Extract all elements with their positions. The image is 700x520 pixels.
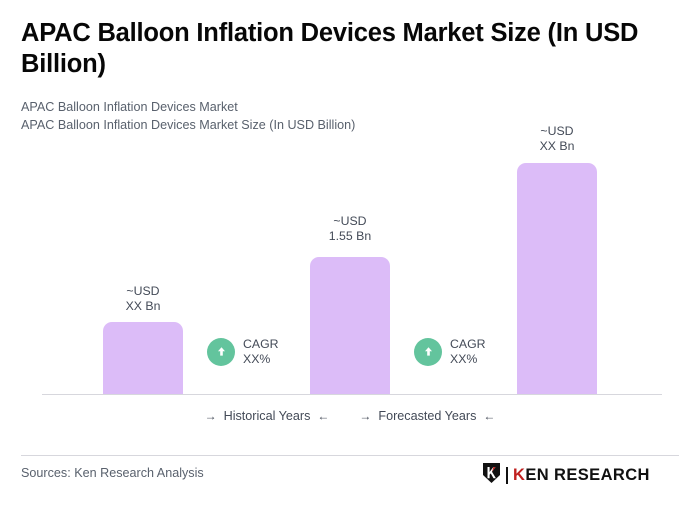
bar-value-label-1: ~USD XX Bn	[103, 284, 183, 313]
arrow-left-icon: ←	[483, 410, 495, 422]
cagr-badge-1: CAGR XX%	[207, 337, 279, 366]
footer-divider	[21, 455, 679, 456]
logo-wordmark-rest: EN RESEARCH	[525, 467, 650, 484]
bar-value-label-1-line1: ~USD	[126, 284, 159, 298]
cagr-label-2-line1: CAGR	[450, 337, 486, 351]
cagr-label-2-line2: XX%	[450, 352, 486, 367]
legend-item-historical-years: → Historical Years ←	[205, 409, 330, 423]
arrow-left-icon: ←	[317, 410, 329, 422]
logo-divider	[506, 467, 508, 484]
bar-3[interactable]	[517, 163, 597, 394]
cagr-badge-2: CAGR XX%	[414, 337, 486, 366]
bar-value-label-2-line2: 1.55 Bn	[310, 229, 390, 244]
legend-label-forecasted-years: Forecasted Years	[378, 409, 476, 423]
bar-value-label-3-line1: ~USD	[540, 124, 573, 138]
bar-value-label-3-line2: XX Bn	[517, 139, 597, 154]
ken-research-logo: K EN RESEARCH	[482, 462, 650, 489]
arrow-up-icon	[207, 338, 235, 366]
arrow-right-icon: →	[359, 410, 371, 422]
legend-item-forecasted-years: → Forecasted Years ←	[359, 409, 495, 423]
logo-wordmark: K EN RESEARCH	[513, 467, 650, 484]
bar-1[interactable]	[103, 322, 183, 394]
plot-area: ~USD XX Bn CAGR XX% ~USD 1.55 Bn	[0, 0, 700, 400]
cagr-label-1: CAGR XX%	[243, 337, 279, 366]
arrow-up-icon	[414, 338, 442, 366]
bar-value-label-3: ~USD XX Bn	[517, 124, 597, 153]
x-axis-line	[42, 394, 662, 395]
period-legend: → Historical Years ← → Forecasted Years …	[0, 409, 700, 423]
bar-value-label-1-line2: XX Bn	[103, 299, 183, 314]
cagr-label-1-line1: CAGR	[243, 337, 279, 351]
bar-value-label-2: ~USD 1.55 Bn	[310, 214, 390, 243]
cagr-label-1-line2: XX%	[243, 352, 279, 367]
arrow-right-icon: →	[205, 410, 217, 422]
bar-value-label-2-line1: ~USD	[333, 214, 366, 228]
ken-research-shield-icon	[482, 462, 501, 489]
logo-wordmark-k: K	[513, 467, 525, 484]
sources-text: Sources: Ken Research Analysis	[21, 466, 204, 480]
bar-2[interactable]	[310, 257, 390, 394]
chart-page: APAC Balloon Inflation Devices Market Si…	[0, 0, 700, 520]
cagr-label-2: CAGR XX%	[450, 337, 486, 366]
legend-label-historical-years: Historical Years	[224, 409, 311, 423]
